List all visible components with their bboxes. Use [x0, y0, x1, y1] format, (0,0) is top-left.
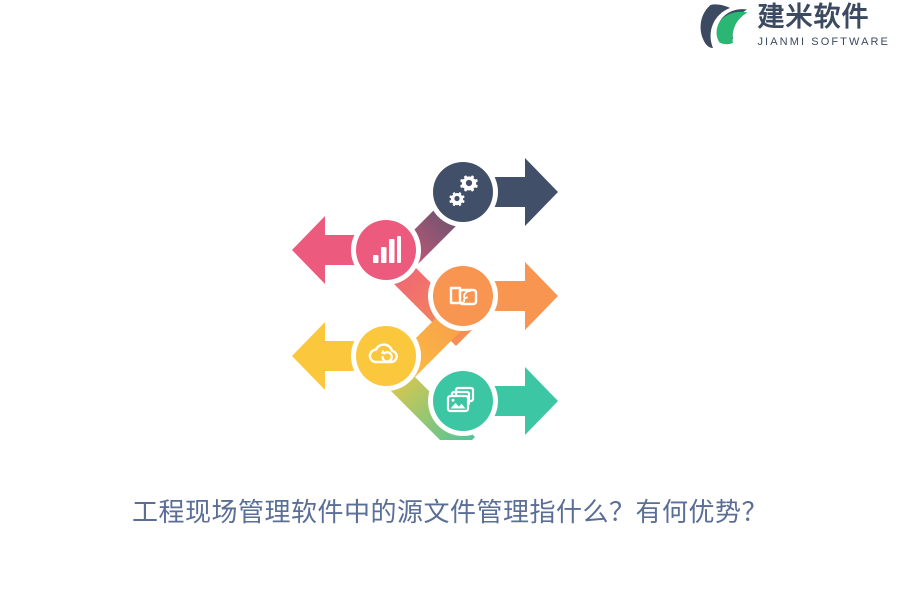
brand-name-en: JIANMI SOFTWARE	[757, 37, 890, 48]
node-circle-1	[433, 162, 493, 222]
brand-name-cn: 建米软件	[757, 4, 890, 32]
process-step-4	[292, 321, 421, 391]
zigzag-process-infographic	[270, 140, 580, 440]
brand-text: 建米软件 JIANMI SOFTWARE	[757, 4, 890, 47]
process-step-3	[428, 261, 558, 331]
brand-logo: 建米软件 JIANMI SOFTWARE	[697, 0, 890, 52]
process-step-2	[292, 215, 421, 285]
page-caption: 工程现场管理软件中的源文件管理指什么？有何优势？	[0, 492, 900, 529]
node-circle-3	[433, 266, 493, 326]
jianmi-leaf-swoosh-logo-icon	[697, 3, 751, 49]
node-circle-4	[356, 326, 416, 386]
process-step-1	[428, 157, 558, 227]
process-step-5	[428, 366, 558, 436]
